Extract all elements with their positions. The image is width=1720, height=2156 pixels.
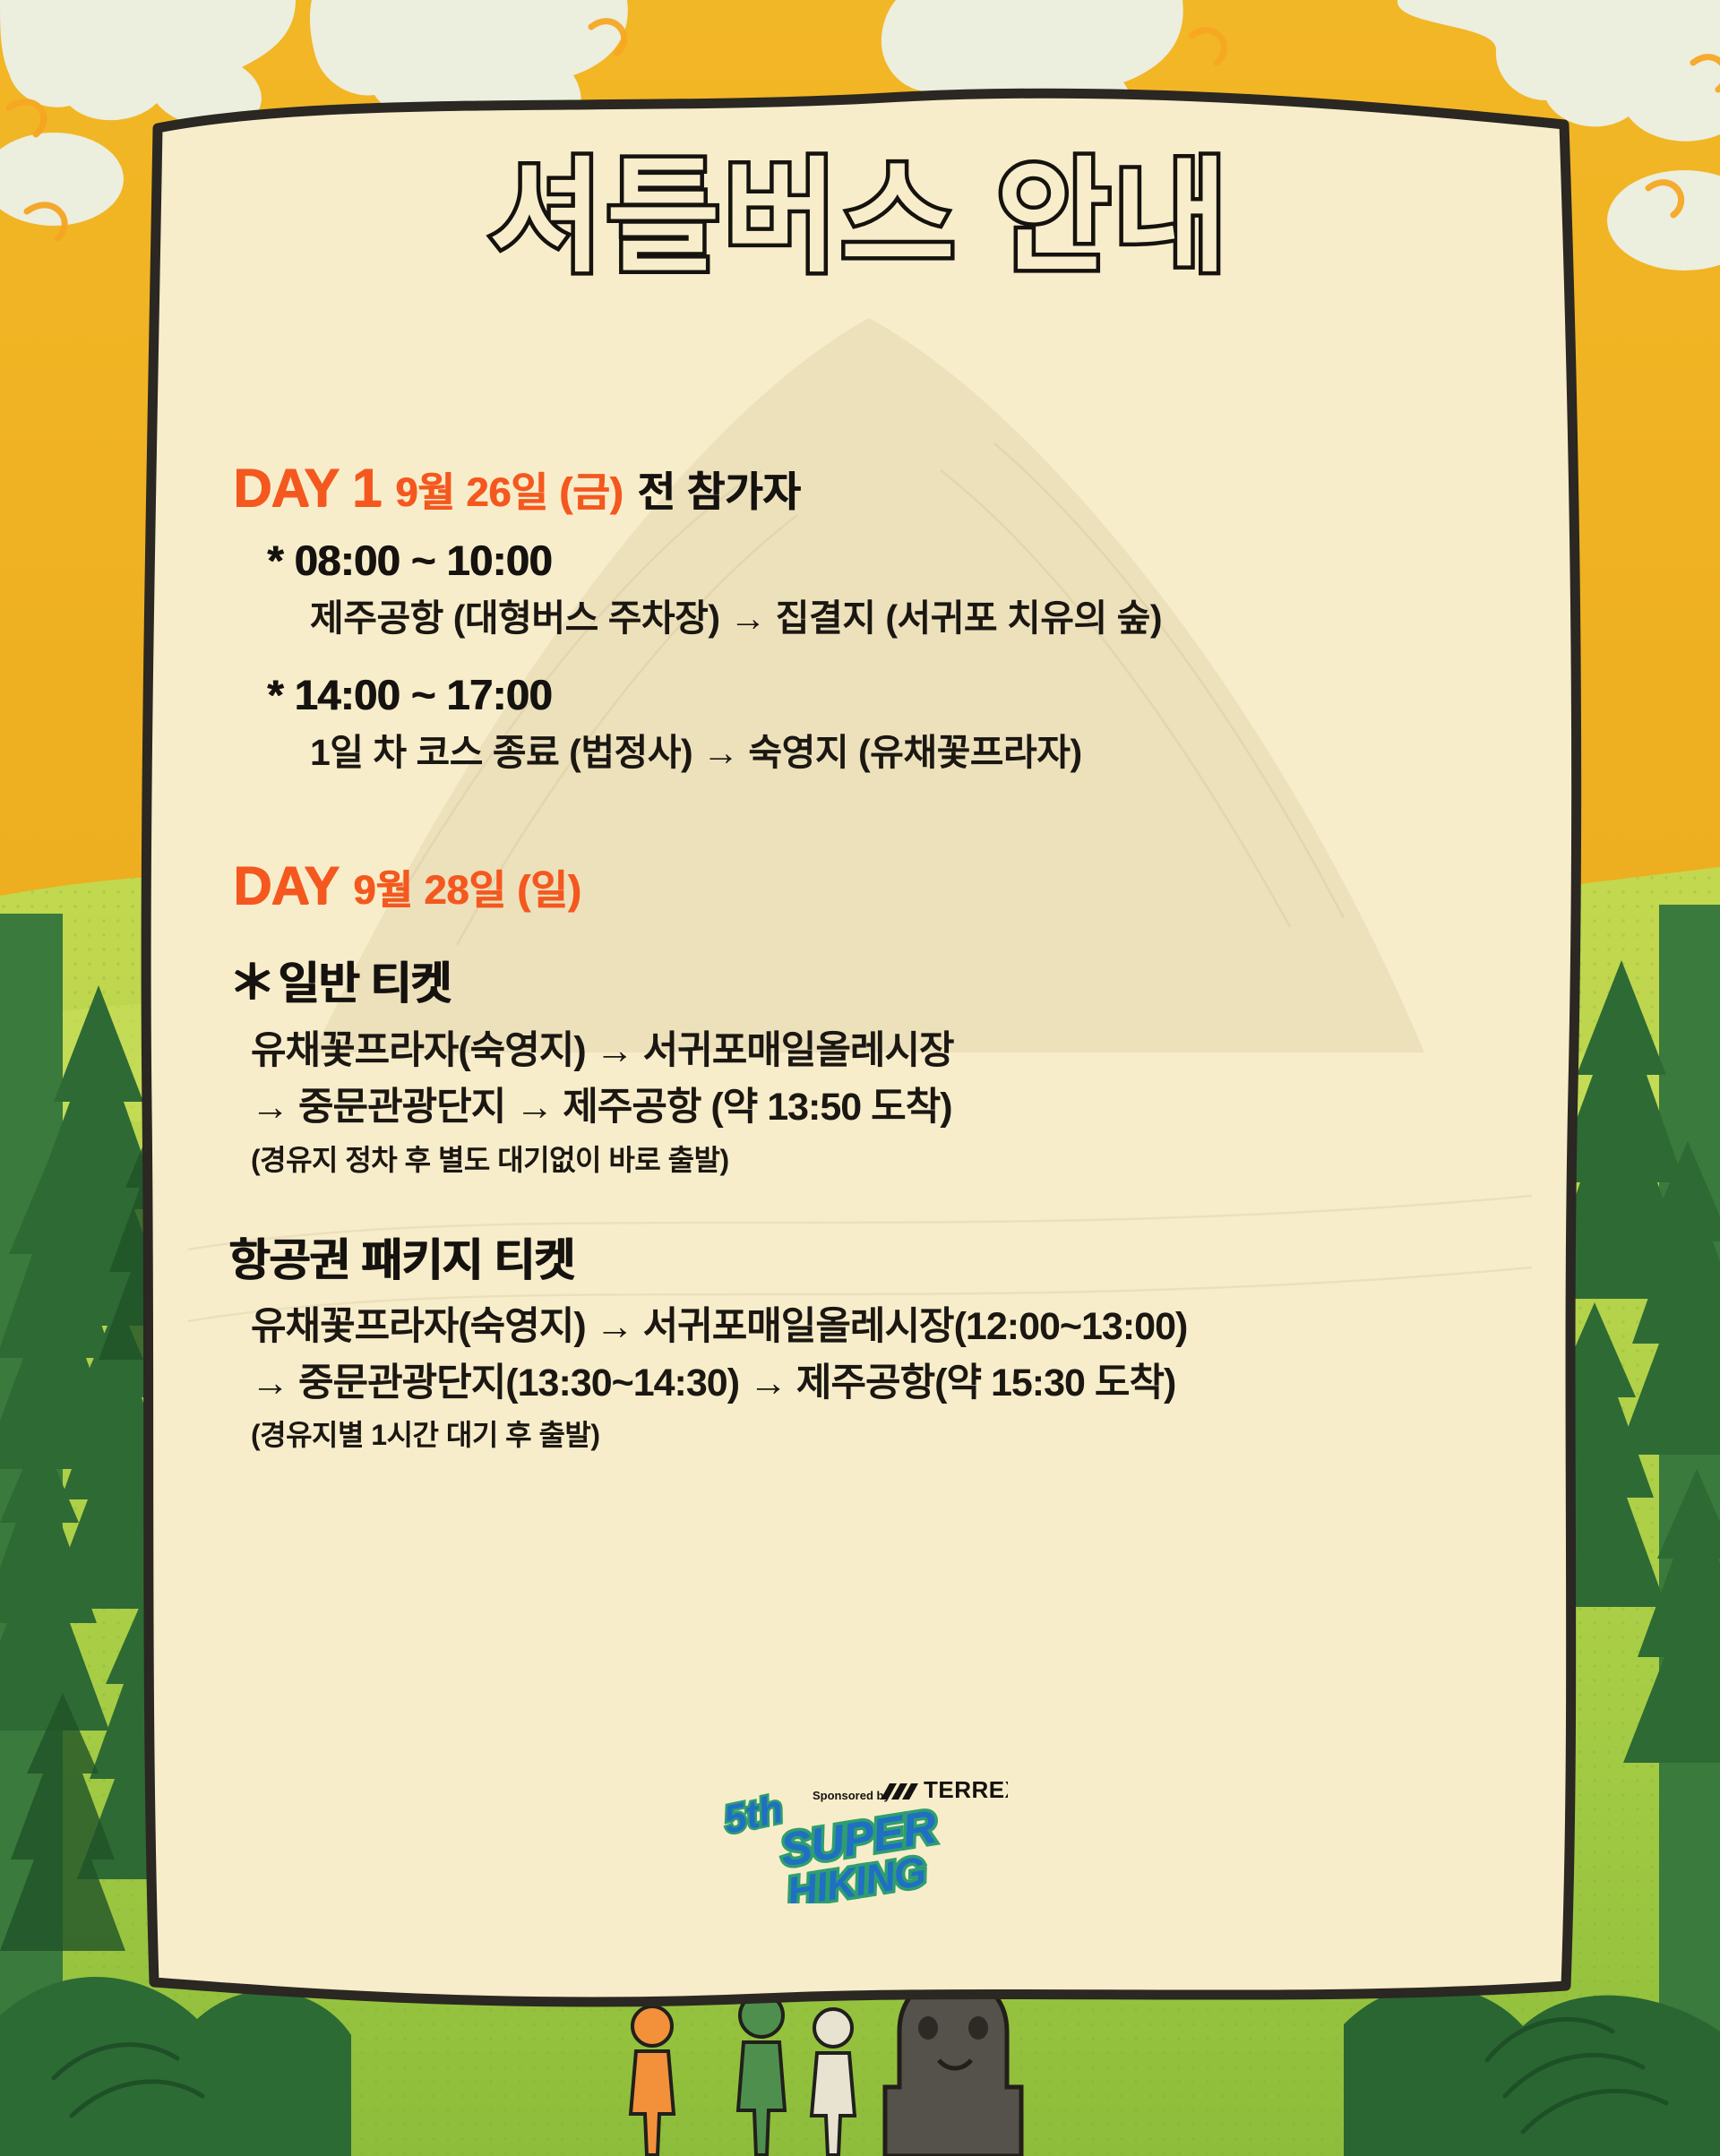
ticket-2-note: (경유지별 1시간 대기 후 출발): [134, 1417, 1586, 1453]
day1-audience: 전 참가자: [637, 471, 800, 512]
logo-brand: TERREX: [924, 1776, 1008, 1803]
ticket-2-line-2: → 중문관광단지(13:30~14:30) → 제주공항(약 15:30 도착): [134, 1358, 1586, 1409]
day1-heading: DAY 1 9월 26일 (금) 전 참가자: [134, 461, 1586, 515]
asterisk-icon: ＊: [228, 958, 274, 1009]
event-logo: 5th Sponsored by TERREX SUPER: [134, 1769, 1586, 1903]
ticket-1-note: (경유지 정차 후 별도 대기없이 바로 출발): [134, 1142, 1586, 1178]
day2-label: DAY: [233, 859, 339, 913]
ticket-1-heading-label: 일반 티켓: [278, 958, 451, 1009]
ticket-1-line-2: → 중문관광단지 → 제주공항 (약 13:50 도착): [134, 1082, 1586, 1133]
day1-entry-1-time: * 08:00 ~ 10:00: [134, 535, 1586, 588]
day2-date: 9월 28일 (일): [353, 870, 580, 910]
day1-entry-2-route: 1일 차 코스 종료 (법정사) → 숙영지 (유채꽃프라자): [134, 729, 1586, 777]
day1-entry-1-route: 제주공항 (대형버스 주차장) → 집결지 (서귀포 치유의 숲): [134, 595, 1586, 642]
ticket-2-heading-label: 항공권 패키지 티켓: [228, 1235, 574, 1285]
page-title: 셔틀버스 안내: [134, 134, 1586, 296]
ticket-2-line-1: 유채꽃프라자(숙영지) → 서귀포매일올레시장(12:00~13:00): [134, 1301, 1586, 1353]
ticket-2-heading: 항공권 패키지 티켓: [134, 1233, 1586, 1287]
day1-date: 9월 26일 (금): [395, 472, 623, 512]
day1-label: DAY 1: [233, 461, 381, 515]
ticket-1-heading: ＊일반 티켓: [134, 956, 1586, 1011]
day2-heading: DAY 9월 28일 (일): [134, 859, 1586, 913]
adidas-logo-icon: [881, 1783, 918, 1800]
poster-title-glyphs: 셔틀버스 안내: [489, 149, 1231, 287]
day1-entry-2-time: * 14:00 ~ 17:00: [134, 669, 1586, 722]
logo-edition: 5th: [720, 1787, 787, 1842]
poster-body: DAY 1 9월 26일 (금) 전 참가자 * 08:00 ~ 10:00 제…: [134, 461, 1586, 1453]
ticket-1-line-1: 유채꽃프라자(숙영지) → 서귀포매일올레시장: [134, 1026, 1586, 1077]
poster-paper-card: 셔틀버스 안내 DAY 1 9월 26일 (금) 전 참가자 * 08:00 ~…: [134, 85, 1586, 2024]
logo-sponsored-by: Sponsored by: [813, 1789, 890, 1802]
